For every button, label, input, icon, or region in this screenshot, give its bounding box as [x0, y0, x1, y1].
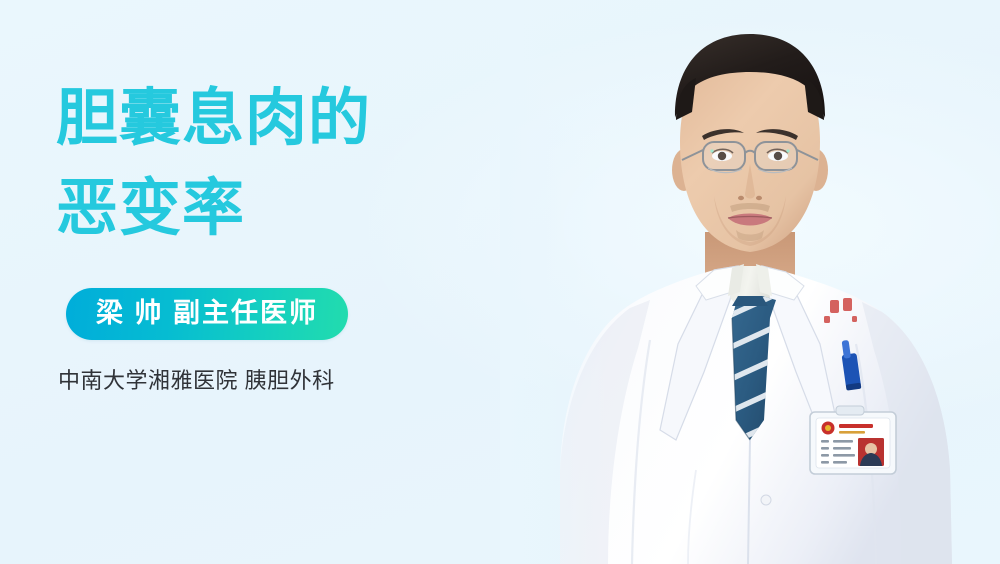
title-line-1: 胆囊息肉的 — [56, 78, 526, 160]
headline-block: 胆囊息肉的 恶变率 梁 帅 副主任医师 中南大学湘雅医院 胰胆外科 — [56, 78, 526, 396]
doctor-name-badge: 梁 帅 副主任医师 — [66, 288, 348, 340]
thumbnail-canvas: 胆囊息肉的 恶变率 梁 帅 副主任医师 中南大学湘雅医院 胰胆外科 — [0, 0, 1000, 564]
id-badge — [810, 406, 896, 474]
coat-button — [761, 495, 771, 505]
portrait-illustration — [500, 0, 1000, 564]
lens-glint-left — [710, 149, 713, 152]
badge-clip — [836, 406, 864, 415]
lens-glint-right — [786, 149, 789, 152]
title-line-2: 恶变率 — [56, 168, 526, 250]
affiliation-text: 中南大学湘雅医院 胰胆外科 — [58, 366, 526, 396]
tie-knot — [732, 296, 768, 306]
nostril-right — [756, 196, 762, 200]
head — [672, 34, 828, 252]
nostril-left — [738, 196, 744, 200]
doctor-portrait-photo — [500, 0, 1000, 564]
